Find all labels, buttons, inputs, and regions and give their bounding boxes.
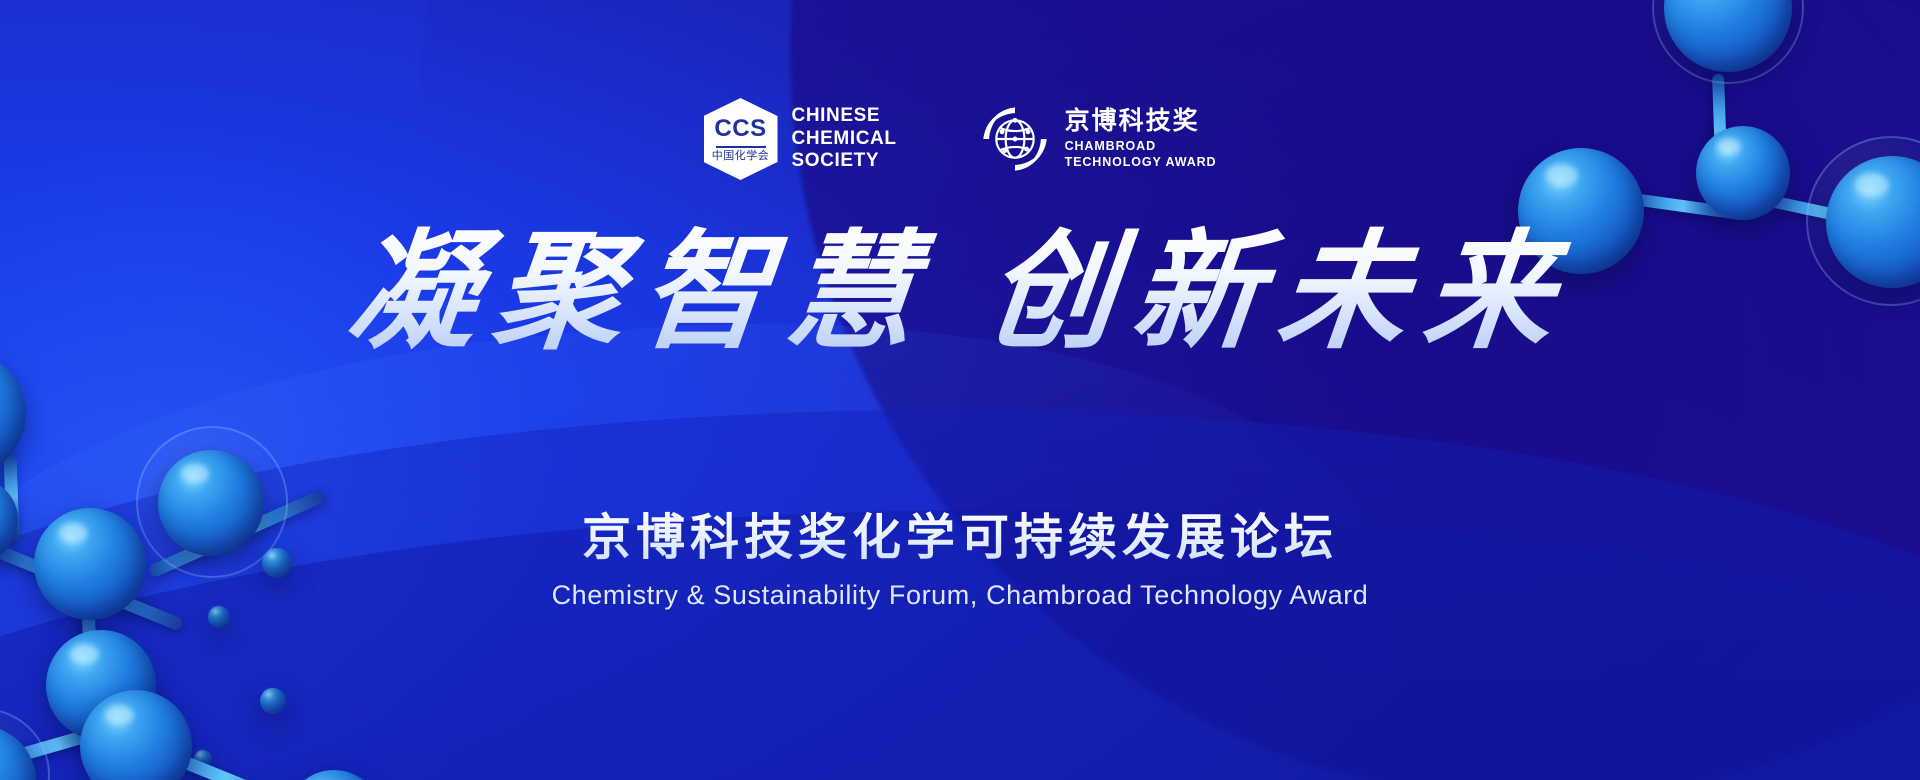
subtitle-chinese: 京博科技奖化学可持续发展论坛 [0,498,1920,569]
ccs-wordmark: CHINESE CHEMICAL SOCIETY [792,105,897,172]
molecule-cluster-bottom-left [60,640,420,780]
globe-network-icon [979,103,1051,175]
chambroad-english-line2: TECHNOLOGY AWARD [1065,154,1217,170]
atom [80,690,192,780]
subtitle-english: Chemistry & Sustainability Forum, Chambr… [0,580,1920,611]
ccs-wordmark-line2: CHEMICAL [792,128,897,150]
ccs-wordmark-line1: CHINESE [792,105,897,127]
chambroad-chinese-name: 京博科技奖 [1065,108,1217,136]
chambroad-english-line1: CHAMBROAD [1065,138,1217,154]
event-banner: CCS 中国化学会 CHINESE CHEMICAL SOCIETY [0,0,1920,780]
ccs-wordmark-line3: SOCIETY [792,150,897,172]
ccs-divider [716,146,766,148]
ccs-chinese-name: 中国化学会 [712,151,770,162]
headline-part-1: 凝聚智慧 [341,217,941,367]
chambroad-english-name: CHAMBROAD TECHNOLOGY AWARD [1065,138,1217,171]
ccs-monogram: CCS [714,117,766,141]
atom [286,770,382,780]
chambroad-logo[interactable]: 京博科技奖 CHAMBROAD TECHNOLOGY AWARD [979,103,1217,175]
ccs-logo[interactable]: CCS 中国化学会 CHINESE CHEMICAL SOCIETY [704,98,897,180]
chambroad-wordmark: 京博科技奖 CHAMBROAD TECHNOLOGY AWARD [1065,108,1217,171]
logo-row: CCS 中国化学会 CHINESE CHEMICAL SOCIETY [0,98,1920,180]
headline: 凝聚智慧创新未来 [0,218,1920,366]
headline-part-2: 创新未来 [979,217,1579,367]
hexagon-badge-icon: CCS 中国化学会 [704,98,778,180]
